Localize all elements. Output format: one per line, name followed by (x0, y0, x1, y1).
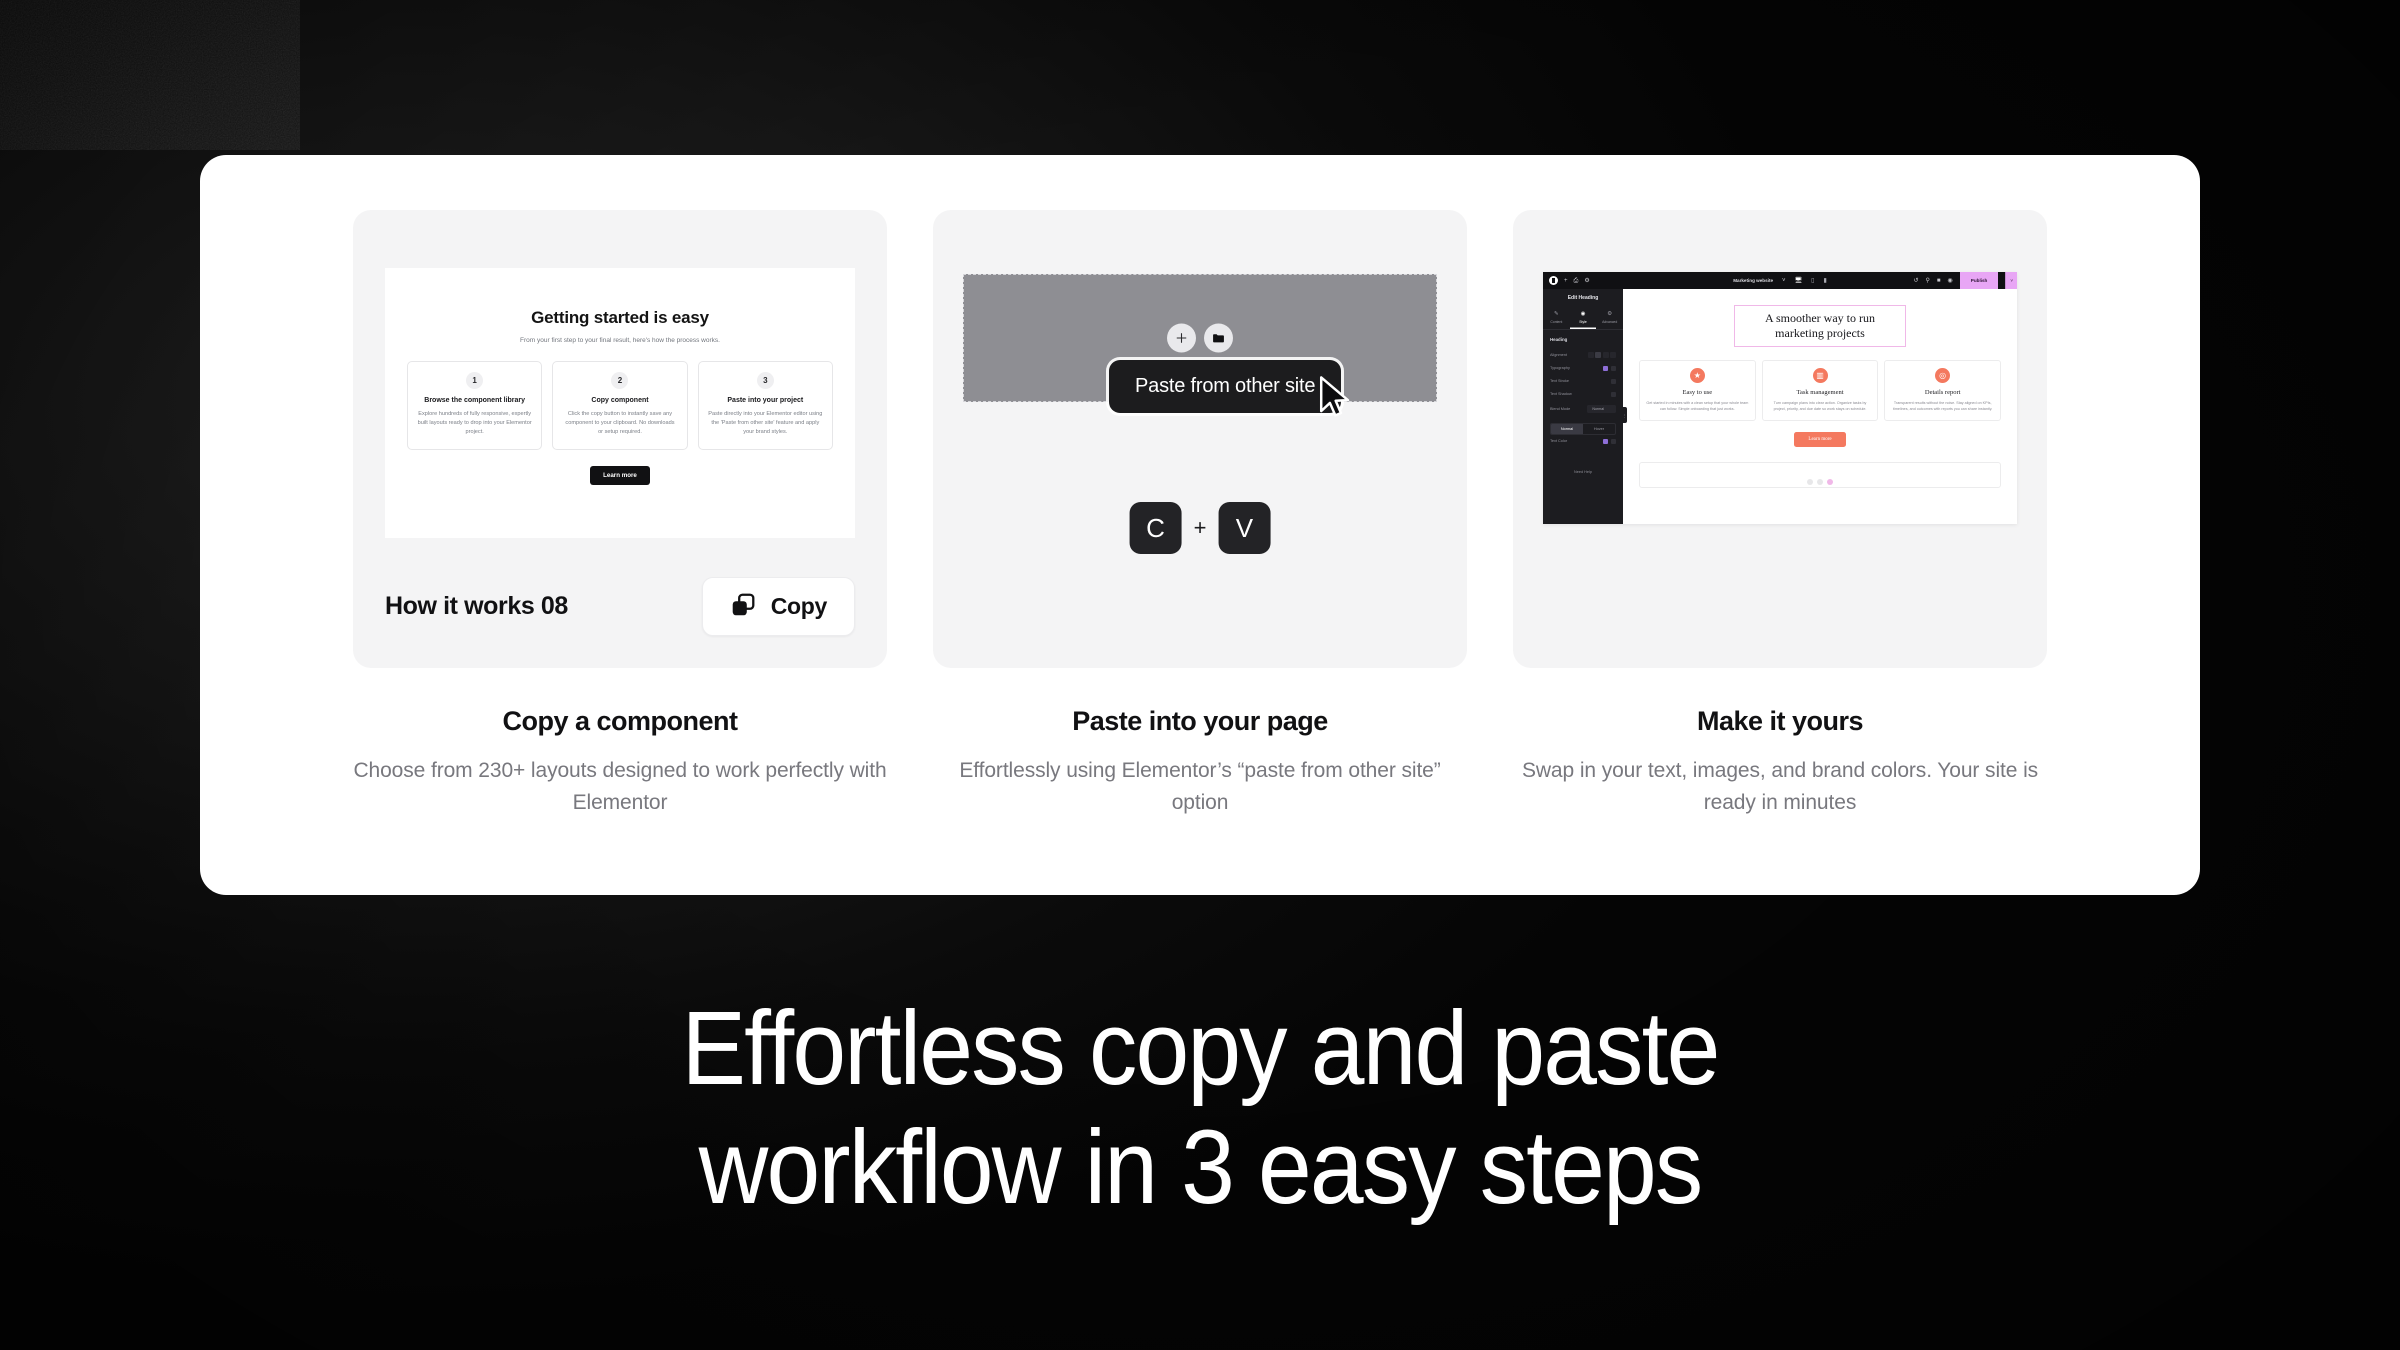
mouse-pointer-icon (1316, 375, 1356, 421)
placeholder-dot-accent (1827, 479, 1833, 485)
canvas-heading-line2: marketing projects (1739, 326, 1901, 341)
step-body: Click the copy button to instantly save … (562, 410, 677, 437)
preview-icon[interactable]: ◉ (1948, 278, 1953, 284)
need-help-link[interactable]: Need Help (1543, 470, 1623, 474)
step-heading: Browse the component library (417, 397, 532, 404)
key-c: C (1130, 502, 1182, 554)
editor-right-controls: ↺ ⚲ ■ ◉ Publish ˅ (1913, 272, 2017, 289)
paste-tooltip: Paste from other site (1109, 360, 1341, 413)
page-headline: Effortless copy and paste workflow in 3 … (96, 990, 2304, 1227)
canvas-heading[interactable]: A smoother way to run marketing projects (1734, 305, 1906, 347)
drop-zone-actions (1167, 324, 1233, 353)
step-heading: Copy component (562, 397, 677, 404)
feature-card: ◎ Details report Transparent results wit… (1884, 360, 2001, 421)
sidebar-row-typography[interactable]: Typography (1543, 362, 1623, 375)
showcase-card: Getting started is easy From your first … (200, 155, 2200, 895)
tab-label: Content (1543, 320, 1570, 324)
row-controls (1603, 439, 1616, 444)
edit-pencil-icon[interactable] (1611, 379, 1616, 384)
sidebar-resize-handle[interactable]: ⋮ (1622, 407, 1627, 423)
star-icon: ★ (1690, 368, 1705, 383)
blend-mode-select[interactable]: Normal (1587, 405, 1616, 413)
panel-label: How it works 08 (385, 592, 568, 621)
edit-pencil-icon[interactable] (1611, 392, 1616, 397)
align-right-icon[interactable] (1603, 352, 1609, 358)
column-paste-into-page: Paste from other site C + V Paste into y… (933, 210, 1467, 819)
canvas-learn-more-button[interactable]: Learn more (1794, 432, 1845, 447)
feature-card: ★ Easy to use Get started in minutes wit… (1639, 360, 1756, 421)
step-heading: Paste into your project (708, 397, 823, 404)
caption-copy-component: Copy a component Choose from 230+ layout… (353, 668, 887, 819)
tablet-icon[interactable]: ▯ (1811, 278, 1814, 284)
feature-card-body: Transparent results without the noise. S… (1891, 400, 1994, 412)
headline-line-1: Effortless copy and paste (96, 990, 2304, 1109)
sidebar-row-text-color[interactable]: Text Color (1543, 435, 1623, 448)
keyboard-shortcut: C + V (1130, 502, 1271, 554)
editor-topbar: + ⎙ ⚙ Marketing website ˅ 🖥 ▯ ▮ ↺ ⚲ (1543, 272, 2017, 289)
row-label: Text Shadow (1550, 392, 1572, 396)
search-icon[interactable]: ⚲ (1925, 278, 1929, 284)
feature-card-heading: Task management (1769, 389, 1872, 396)
trash-icon[interactable]: ■ (1937, 278, 1941, 284)
panel-copy-component: Getting started is easy From your first … (353, 210, 887, 668)
row-controls (1603, 366, 1616, 371)
preview-title: Getting started is easy (385, 308, 855, 328)
canvas-lower-strip (1639, 462, 2001, 488)
global-typography-icon[interactable] (1603, 366, 1608, 371)
copy-icon (730, 592, 756, 621)
page-icon[interactable]: ⎙ (1574, 278, 1579, 284)
step-number: 3 (757, 372, 774, 389)
pencil-icon: ✎ (1543, 312, 1570, 318)
column-copy-component: Getting started is easy From your first … (353, 210, 887, 819)
caption-paste-into-page: Paste into your page Effortlessly using … (933, 668, 1467, 819)
segment-normal[interactable]: Normal (1551, 424, 1583, 434)
panel-paste-into-page: Paste from other site C + V (933, 210, 1467, 668)
canvas-heading-line1: A smoother way to run (1739, 311, 1901, 326)
desktop-icon[interactable]: 🖥 (1795, 278, 1803, 284)
feature-card-body: Turn campaign plans into clear action. O… (1769, 400, 1872, 412)
placeholder-dot (1807, 479, 1813, 485)
gear-icon: ⚙ (1596, 312, 1623, 318)
chart-icon: ▥ (1813, 368, 1828, 383)
caption-body: Effortlessly using Elementor’s “paste fr… (933, 755, 1467, 819)
caption-body: Choose from 230+ layouts designed to wor… (353, 755, 887, 819)
sidebar-row-blend-mode[interactable]: Blend Mode Normal (1543, 401, 1623, 417)
editor-center-controls: Marketing website ˅ 🖥 ▯ ▮ (1733, 278, 1827, 284)
caption-heading: Make it yours (1513, 706, 2047, 737)
caption-make-it-yours: Make it yours Swap in your text, images,… (1513, 668, 2047, 819)
feature-card: ▥ Task management Turn campaign plans in… (1762, 360, 1879, 421)
editor-canvas: A smoother way to run marketing projects… (1623, 289, 2017, 524)
panel-make-it-yours: + ⎙ ⚙ Marketing website ˅ 🖥 ▯ ▮ ↺ ⚲ (1513, 210, 2047, 668)
editor-sidebar: Edit Heading ✎ Content ◉ Style (1543, 289, 1623, 524)
preview-step: 1 Browse the component library Explore h… (407, 361, 542, 450)
preview-subtitle: From your first step to your final resul… (385, 337, 855, 344)
plus-icon[interactable] (1167, 324, 1196, 353)
tab-content[interactable]: ✎ Content (1543, 308, 1570, 329)
row-label: Blend Mode (1550, 407, 1570, 411)
sidebar-row-text-stroke[interactable]: Text Stroke (1543, 375, 1623, 388)
sidebar-tabs: ✎ Content ◉ Style ⚙ Advanced (1543, 308, 1623, 330)
edit-pencil-icon[interactable] (1611, 366, 1616, 371)
row-label: Typography (1550, 366, 1570, 370)
tab-advanced[interactable]: ⚙ Advanced (1596, 308, 1623, 329)
row-label: Text Stroke (1550, 379, 1569, 383)
component-preview: Getting started is easy From your first … (385, 268, 855, 538)
report-icon: ◎ (1935, 368, 1950, 383)
key-v: V (1218, 502, 1270, 554)
sidebar-title: Edit Heading (1543, 295, 1623, 308)
column-make-it-yours: + ⎙ ⚙ Marketing website ˅ 🖥 ▯ ▮ ↺ ⚲ (1513, 210, 2047, 819)
canvas-feature-cards: ★ Easy to use Get started in minutes wit… (1639, 360, 2001, 421)
preview-learn-more-button[interactable]: Learn more (590, 466, 650, 485)
step-number: 2 (611, 372, 628, 389)
elementor-editor-mock: + ⎙ ⚙ Marketing website ˅ 🖥 ▯ ▮ ↺ ⚲ (1543, 272, 2017, 524)
color-swatch-icon[interactable] (1611, 439, 1616, 444)
brush-icon: ◉ (1570, 312, 1597, 318)
caption-heading: Paste into your page (933, 706, 1467, 737)
row-label: Text Color (1550, 439, 1567, 443)
align-center-icon[interactable] (1595, 352, 1601, 358)
alignment-options[interactable] (1588, 352, 1617, 358)
row-label: Alignment (1550, 353, 1567, 357)
feature-card-heading: Details report (1891, 389, 1994, 396)
preview-steps: 1 Browse the component library Explore h… (407, 361, 833, 450)
align-justify-icon[interactable] (1610, 352, 1616, 358)
step-body: Paste directly into your Elementor edito… (708, 410, 823, 437)
feature-card-body: Get started in minutes with a clean setu… (1646, 400, 1749, 412)
publish-dropdown-icon[interactable]: ˅ (2005, 272, 2017, 289)
folder-icon[interactable] (1204, 324, 1233, 353)
headline-line-2: workflow in 3 easy steps (96, 1109, 2304, 1228)
history-icon[interactable]: ↺ (1913, 278, 1918, 284)
panel-footer: How it works 08 Copy (385, 577, 855, 636)
segment-hover[interactable]: Hover (1583, 424, 1615, 434)
publish-button[interactable]: Publish (1960, 272, 1999, 289)
preview-step: 2 Copy component Click the copy button t… (552, 361, 687, 450)
tab-style[interactable]: ◉ Style (1570, 308, 1597, 329)
plus-icon[interactable]: + (1564, 278, 1568, 284)
tab-label: Advanced (1596, 320, 1623, 324)
key-separator: + (1194, 515, 1207, 541)
editor-body: Edit Heading ✎ Content ◉ Style (1543, 289, 2017, 524)
state-segmented-control[interactable]: Normal Hover (1550, 423, 1616, 435)
tab-label: Style (1570, 320, 1597, 324)
elementor-logo-icon[interactable] (1549, 276, 1558, 285)
align-left-icon[interactable] (1588, 352, 1594, 358)
sidebar-row-alignment[interactable]: Alignment (1543, 348, 1623, 362)
step-body: Explore hundreds of fully responsive, ex… (417, 410, 532, 437)
caption-heading: Copy a component (353, 706, 887, 737)
editor-site-name[interactable]: Marketing website (1733, 278, 1773, 283)
sidebar-section-label[interactable]: Heading (1543, 330, 1623, 348)
step-number: 1 (466, 372, 483, 389)
copy-button[interactable]: Copy (702, 577, 855, 636)
sidebar-row-text-shadow[interactable]: Text Shadow (1543, 388, 1623, 401)
feature-card-heading: Easy to use (1646, 389, 1749, 396)
mobile-icon[interactable]: ▮ (1823, 278, 1826, 284)
caption-body: Swap in your text, images, and brand col… (1513, 755, 2047, 819)
preview-step: 3 Paste into your project Paste directly… (698, 361, 833, 450)
chevron-down-icon[interactable]: ˅ (1782, 278, 1786, 284)
global-color-icon[interactable] (1603, 439, 1608, 444)
settings-icon[interactable]: ⚙ (1584, 278, 1589, 284)
copy-button-label: Copy (771, 593, 827, 620)
panels-row: Getting started is easy From your first … (255, 210, 2145, 819)
placeholder-dot (1817, 479, 1823, 485)
